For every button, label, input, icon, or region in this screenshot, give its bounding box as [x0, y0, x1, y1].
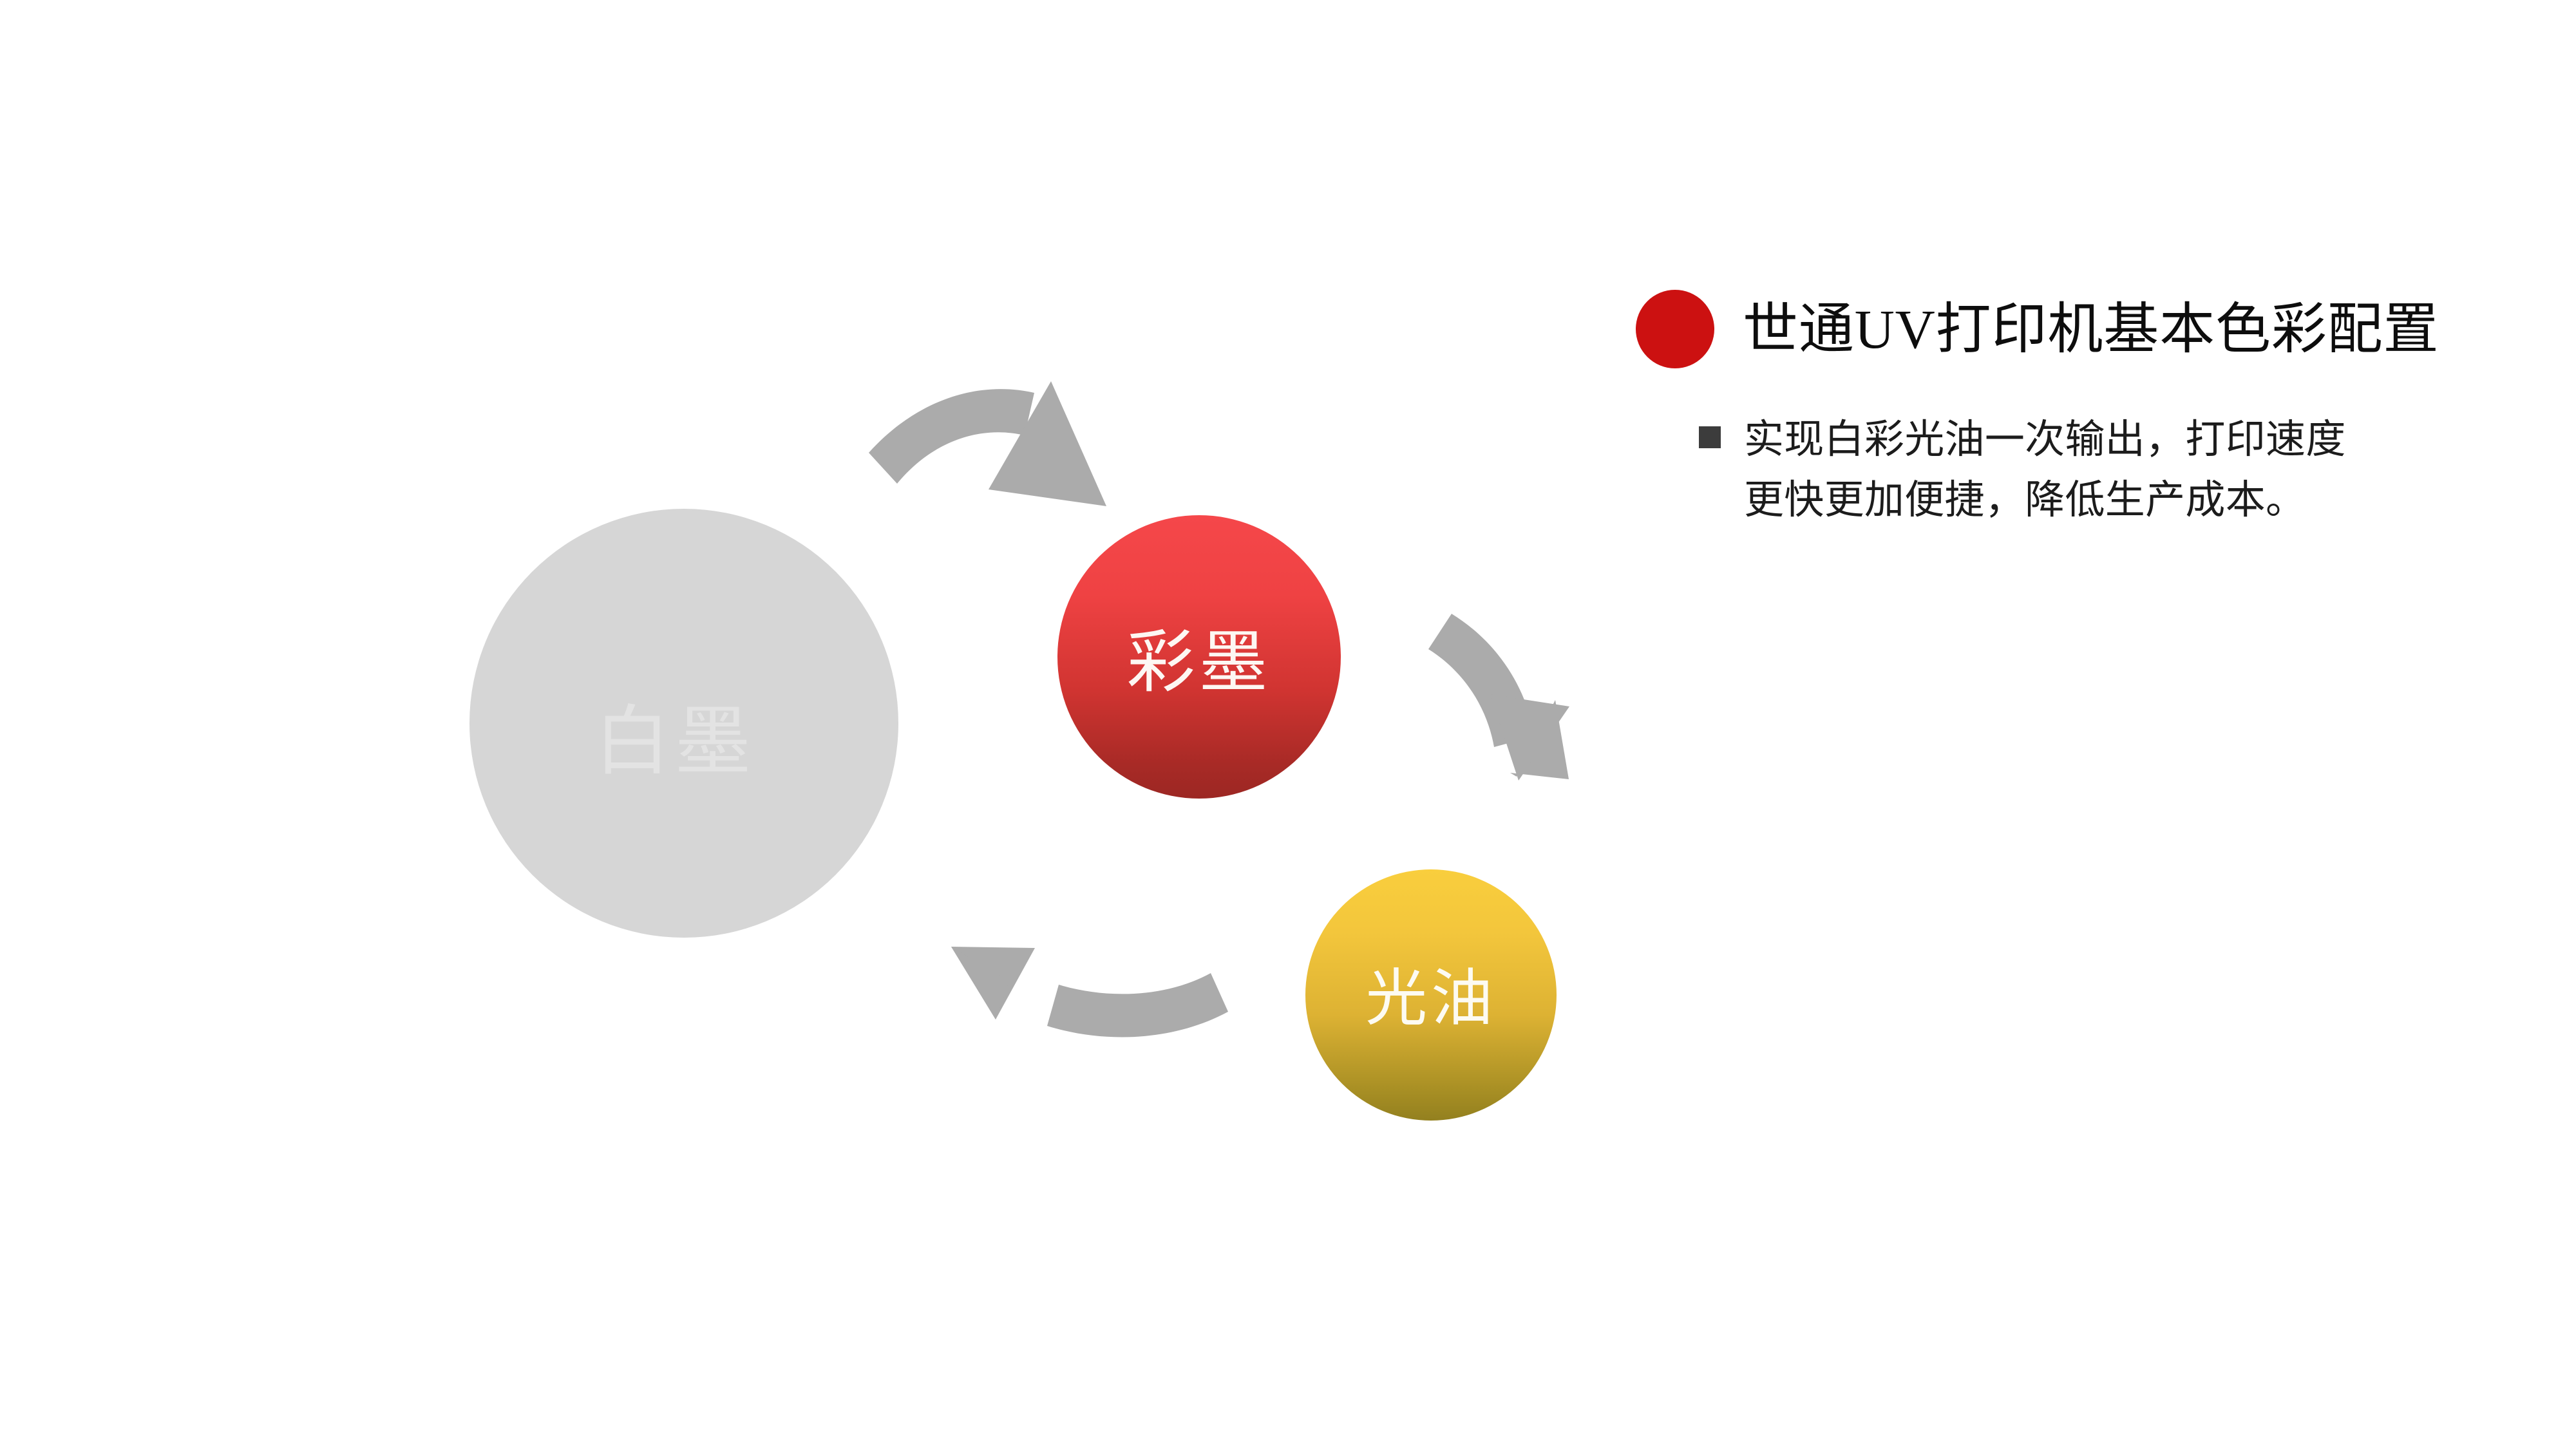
panel-body-item: 实现白彩光油一次输出，打印速度更快更加便捷，降低生产成本。	[1699, 410, 2492, 531]
panel-body-text: 实现白彩光油一次输出，打印速度更快更加便捷，降低生产成本。	[1744, 410, 2362, 531]
text-panel: 世通UV打印机基本色彩配置 实现白彩光油一次输出，打印速度更快更加便捷，降低生产…	[1636, 277, 2492, 531]
arrow-white-to-color-icon	[869, 381, 1106, 506]
square-bullet-icon	[1699, 426, 1721, 448]
node-label-varnish: 光油	[1365, 968, 1497, 1030]
diagram-node-color-ink[interactable]: 彩墨	[1057, 515, 1341, 799]
node-label-white-ink: 白墨	[594, 705, 755, 781]
diagram-node-varnish[interactable]: 光油	[1305, 869, 1557, 1121]
arrow-varnish-to-white-icon	[951, 947, 1228, 1037]
red-bullet-circle-icon	[1636, 290, 1714, 368]
diagram-node-white-ink[interactable]: 白墨	[469, 509, 898, 938]
panel-heading-title: 世通UV打印机基本色彩配置	[1743, 299, 2439, 360]
panel-heading: 世通UV打印机基本色彩配置	[1636, 277, 2492, 374]
node-label-color-ink: 彩墨	[1127, 629, 1272, 697]
cycle-diagram: 白墨 彩墨 光油	[0, 0, 1610, 1449]
slide-canvas: 白墨 彩墨 光油 世通UV打印机基本色彩配置 实现白彩光油一次输出，打印速度更快…	[0, 0, 2576, 1449]
arrow-color-to-varnish-icon	[1428, 614, 1569, 781]
